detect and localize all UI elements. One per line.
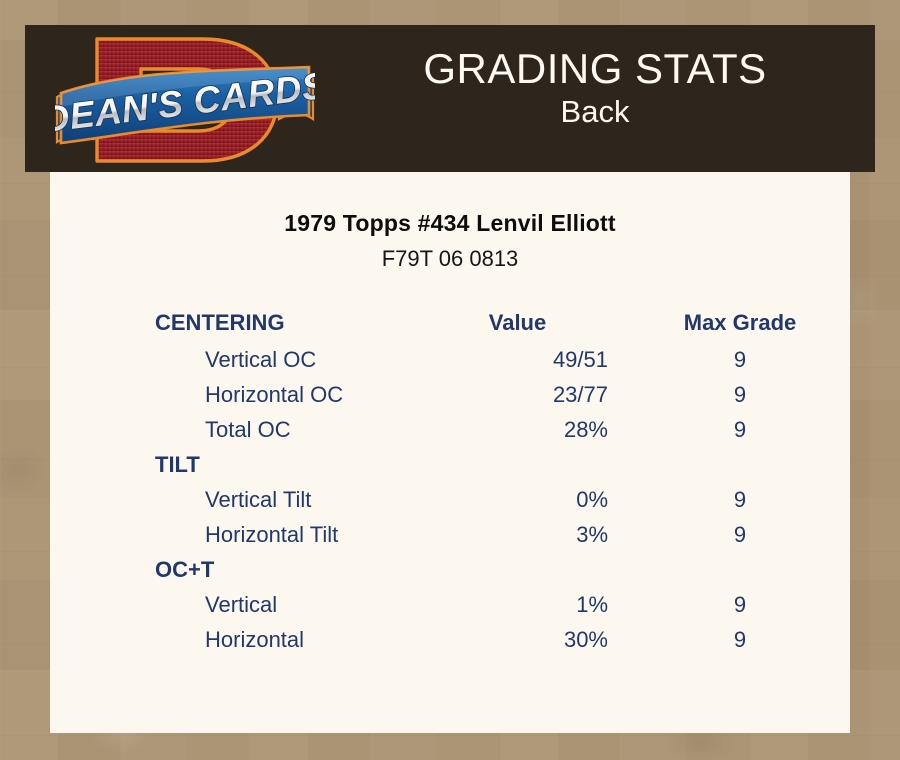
row-max-grade: 9 — [630, 417, 850, 452]
table-row: Total OC 28% 9 — [50, 417, 850, 452]
stats-table-body: CENTERING Value Max Grade Vertical OC 49… — [50, 310, 850, 662]
section-header-oc-plus-t: OC+T — [50, 557, 850, 592]
row-label: Horizontal Tilt — [50, 522, 405, 557]
table-row: Vertical 1% 9 — [50, 592, 850, 627]
row-value: 23/77 — [405, 382, 630, 417]
content-panel: 1979 Topps #434 Lenvil Elliott F79T 06 0… — [50, 172, 850, 733]
header-bar: DEAN'S CARDS GRADING STATS Back — [25, 25, 875, 172]
table-row: Horizontal OC 23/77 9 — [50, 382, 850, 417]
section-spacer-value — [405, 452, 630, 487]
column-header-max-grade: Max Grade — [630, 310, 850, 347]
row-label: Vertical Tilt — [50, 487, 405, 522]
row-max-grade: 9 — [630, 487, 850, 522]
column-header-centering: CENTERING — [50, 310, 405, 347]
row-max-grade: 9 — [630, 347, 850, 382]
section-title: TILT — [50, 452, 405, 487]
deans-cards-logo[interactable]: DEAN'S CARDS — [55, 27, 315, 172]
table-row: Vertical OC 49/51 9 — [50, 347, 850, 382]
row-label: Total OC — [50, 417, 405, 452]
page-title: GRADING STATS — [325, 47, 865, 91]
section-spacer-grade — [630, 452, 850, 487]
row-max-grade: 9 — [630, 592, 850, 627]
row-value: 0% — [405, 487, 630, 522]
row-max-grade: 9 — [630, 627, 850, 662]
row-label: Horizontal — [50, 627, 405, 662]
table-header-row: CENTERING Value Max Grade — [50, 310, 850, 347]
row-label: Horizontal OC — [50, 382, 405, 417]
grading-stats-page: DEAN'S CARDS GRADING STATS Back 1979 Top… — [0, 0, 900, 760]
section-title: OC+T — [50, 557, 405, 592]
header-title-block: GRADING STATS Back — [325, 47, 865, 128]
row-value: 30% — [405, 627, 630, 662]
row-max-grade: 9 — [630, 382, 850, 417]
table-row: Horizontal Tilt 3% 9 — [50, 522, 850, 557]
grading-stats-table: CENTERING Value Max Grade Vertical OC 49… — [50, 310, 850, 662]
card-title: 1979 Topps #434 Lenvil Elliott — [50, 210, 850, 237]
section-spacer-value — [405, 557, 630, 592]
section-header-tilt: TILT — [50, 452, 850, 487]
row-value: 1% — [405, 592, 630, 627]
row-max-grade: 9 — [630, 522, 850, 557]
row-value: 3% — [405, 522, 630, 557]
row-label: Vertical OC — [50, 347, 405, 382]
table-row: Vertical Tilt 0% 9 — [50, 487, 850, 522]
column-header-value: Value — [405, 310, 630, 347]
row-label: Vertical — [50, 592, 405, 627]
card-serial-number: F79T 06 0813 — [50, 246, 850, 272]
table-row: Horizontal 30% 9 — [50, 627, 850, 662]
row-value: 28% — [405, 417, 630, 452]
page-subtitle: Back — [325, 96, 865, 129]
section-spacer-grade — [630, 557, 850, 592]
row-value: 49/51 — [405, 347, 630, 382]
